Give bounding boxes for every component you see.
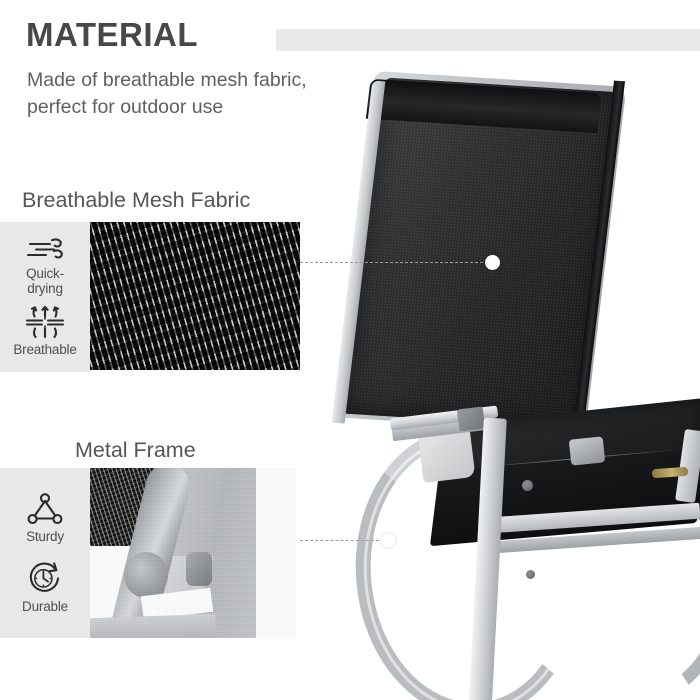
infographic-page: MATERIAL Made of breathable mesh fabric,… [0,0,700,700]
hotspot-dot-backrest-mesh[interactable] [485,255,500,270]
mesh-fabric-photo [90,222,300,370]
airflow-arrows-icon [24,305,66,339]
feature-block-metal-frame: Sturdy Durable [0,468,296,638]
badge-breathable: Breathable [0,305,90,357]
badge-durable: Durable [0,560,90,614]
clock-arrow-icon [25,560,65,596]
chair-pivot-bolt-upper [522,480,533,491]
mf-lower-bar [90,614,216,638]
badge-label-durable: Durable [22,599,68,614]
feature-heading-mesh: Breathable Mesh Fabric [22,190,250,212]
chair-seat-clip [569,436,606,465]
badge-quick-drying: Quick- drying [0,237,90,296]
chair-armrest-joint [457,406,485,431]
mf-right-white-space [256,468,296,638]
metal-frame-photo [90,468,296,638]
badge-label-breathable: Breathable [13,342,76,357]
page-title: MATERIAL [26,18,198,51]
badge-panel-mesh: Quick- drying [0,222,90,372]
product-photo-rocking-chair [330,40,700,700]
mf-pivot-knob [186,552,212,586]
feature-block-mesh: Quick- drying [0,222,300,372]
feature-heading-metal-frame: Metal Frame [75,440,196,462]
connector-line-metal-frame [300,540,384,541]
chair-pivot-bolt-lower [526,570,535,579]
badge-label-sturdy: Sturdy [26,529,64,544]
wind-icon [24,237,66,263]
mf-tube-end-cap [124,552,168,598]
hotspot-dot-rocker-frame[interactable] [381,533,396,548]
mesh-fabric-texture [90,222,300,370]
triangle-nodes-icon [25,492,65,526]
page-subtitle: Made of breathable mesh fabric, perfect … [27,67,367,121]
metal-frame-scene [90,468,296,638]
badge-label-quick-drying: Quick- drying [26,266,64,296]
badge-panel-metal-frame: Sturdy Durable [0,468,90,638]
badge-sturdy: Sturdy [0,492,90,544]
connector-line-mesh [300,262,488,263]
